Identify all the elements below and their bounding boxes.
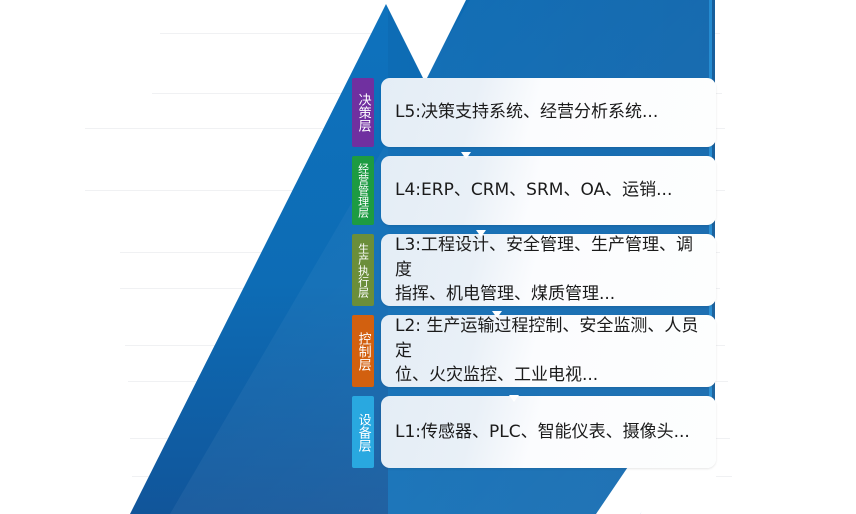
level-tag-L3: 生产执行层	[352, 234, 374, 306]
down-arrow-icon	[492, 311, 502, 318]
level-text-L5: L5:决策支持系统、经营分析系统...	[395, 100, 658, 125]
down-arrow-icon	[476, 230, 486, 237]
level-list: 决策层 L5:决策支持系统、经营分析系统... 经营管理层 L4:ERP、CRM…	[352, 78, 716, 477]
level-box-L5[interactable]: L5:决策支持系统、经营分析系统...	[381, 78, 716, 147]
level-text-L4: L4:ERP、CRM、SRM、OA、运销...	[395, 178, 672, 203]
level-row[interactable]: 控制层 L2: 生产运输过程控制、安全监测、人员定 位、火灾监控、工业电视...	[352, 315, 716, 387]
level-tag-L5: 决策层	[352, 78, 374, 147]
level-row[interactable]: 设备层 L1:传感器、PLC、智能仪表、摄像头...	[352, 396, 716, 468]
diagram-canvas: 决策层 L5:决策支持系统、经营分析系统... 经营管理层 L4:ERP、CRM…	[0, 0, 856, 514]
level-row[interactable]: 经营管理层 L4:ERP、CRM、SRM、OA、运销...	[352, 156, 716, 225]
level-text-L1: L1:传感器、PLC、智能仪表、摄像头...	[395, 420, 690, 445]
level-text-L3-line1: L3:工程设计、安全管理、生产管理、调度	[395, 233, 702, 282]
level-text-L2-line1: L2: 生产运输过程控制、安全监测、人员定	[395, 314, 702, 363]
level-tag-L4: 经营管理层	[352, 156, 374, 225]
level-row[interactable]: 生产执行层 L3:工程设计、安全管理、生产管理、调度 指挥、机电管理、煤质管理.…	[352, 234, 716, 306]
down-arrow-icon	[461, 152, 471, 159]
level-tag-L2: 控制层	[352, 315, 374, 387]
level-box-L4[interactable]: L4:ERP、CRM、SRM、OA、运销...	[381, 156, 716, 225]
level-row[interactable]: 决策层 L5:决策支持系统、经营分析系统...	[352, 78, 716, 147]
level-box-L2[interactable]: L2: 生产运输过程控制、安全监测、人员定 位、火灾监控、工业电视...	[381, 315, 716, 387]
level-text-L3-line2: 指挥、机电管理、煤质管理...	[395, 282, 702, 307]
level-tag-L1: 设备层	[352, 396, 374, 468]
down-arrow-icon	[509, 395, 519, 402]
level-text-L2-line2: 位、火灾监控、工业电视...	[395, 363, 702, 388]
level-box-L3[interactable]: L3:工程设计、安全管理、生产管理、调度 指挥、机电管理、煤质管理...	[381, 234, 716, 306]
level-box-L1[interactable]: L1:传感器、PLC、智能仪表、摄像头...	[381, 396, 716, 468]
